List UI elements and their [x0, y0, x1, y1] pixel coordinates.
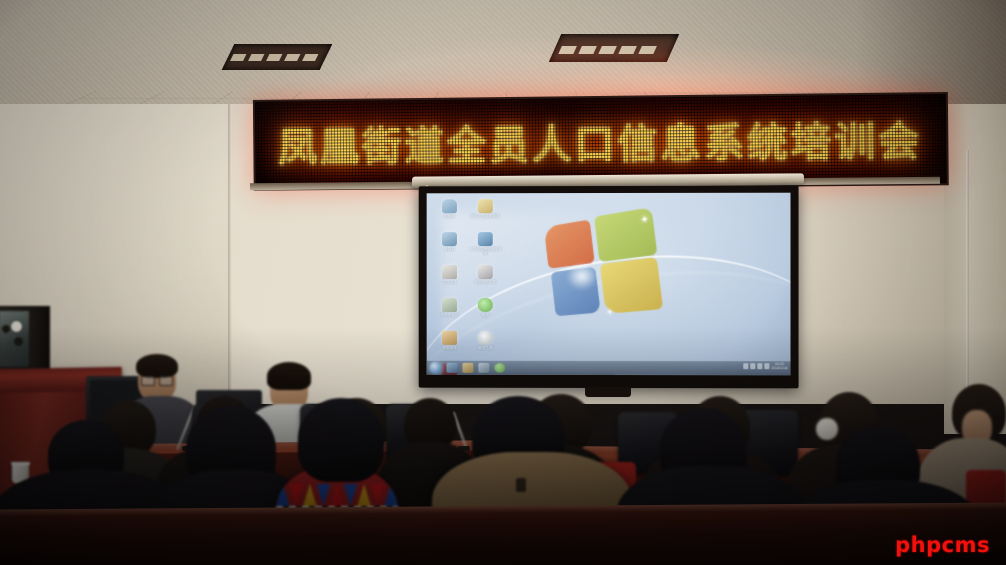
presenter-hair — [267, 362, 311, 390]
recycle-bin-icon[interactable]: 回收站 — [433, 198, 467, 228]
watermark: phpcms — [895, 533, 990, 557]
ceiling-vent-left — [222, 44, 333, 70]
cabinet-dial-icon[interactable] — [11, 321, 22, 332]
photo-scene: 凤凰街道全员人口信息系统培训会 ✦ ✦ — [0, 0, 1006, 565]
coat-zipper-pull — [516, 478, 526, 492]
icon-label: 聊天工具 — [468, 346, 502, 350]
document-icon[interactable]: 新员工信息采集表 — [468, 198, 502, 228]
led-ceiling-glow-right — [560, 0, 1000, 92]
icon-label: 微信 — [468, 313, 502, 317]
setup-icon[interactable]: 安装程序 — [433, 330, 467, 360]
icon-label: 系统安装包 — [433, 313, 467, 317]
icon-label: 培训资料汇总 — [468, 280, 502, 284]
computer-icon[interactable]: 计算机 — [433, 231, 467, 261]
word-document-icon[interactable]: 人口信息系统操作手册 — [468, 231, 502, 261]
face-mask-icon — [816, 418, 838, 440]
icon-label: 安装程序 — [433, 346, 467, 350]
cabinet-side-panel — [30, 307, 49, 373]
qq-chat-icon[interactable]: 聊天工具 — [468, 330, 502, 360]
projector-screen-foot — [585, 387, 631, 397]
cabinet-button-icon[interactable] — [14, 337, 23, 346]
sparkle-icon: ✦ — [639, 214, 649, 227]
front-table — [0, 502, 1006, 565]
projected-desktop: ✦ ✦ 回收站 新员工信息采集表 计算机 人 — [427, 193, 791, 376]
sparkle-icon: ✦ — [606, 307, 614, 317]
cabinet-button-icon[interactable] — [2, 325, 10, 333]
av-equipment-cabinet — [0, 306, 50, 374]
icon-label: 回收站 — [433, 214, 467, 218]
attendee-head — [298, 398, 384, 482]
icon-label: 新员工信息采集表 — [468, 214, 502, 218]
wechat-icon[interactable]: 微信 — [468, 297, 502, 327]
folder-icon[interactable]: 系统安装包 — [433, 297, 467, 327]
eyeglasses-icon — [141, 376, 173, 384]
presenter-hair — [136, 354, 178, 378]
notes-icon[interactable]: 培训资料汇总 — [468, 264, 502, 294]
briefcase-icon[interactable]: 工作文件 — [433, 264, 467, 294]
icon-label: 工作文件 — [433, 280, 467, 284]
windows-pane-bottom-right — [600, 257, 663, 314]
icon-label: 人口信息系统操作手册 — [468, 247, 502, 256]
led-banner-text: 凤凰街道全员人口信息系统培训会 — [278, 108, 923, 174]
windows-logo-icon: ✦ ✦ — [543, 207, 664, 320]
desktop-icon-grid: 回收站 新员工信息采集表 计算机 人口信息系统操作手册 工作文件 — [433, 198, 511, 375]
wall-corner-left — [228, 104, 232, 404]
projector-screen: ✦ ✦ 回收站 新员工信息采集表 计算机 人 — [419, 186, 799, 389]
icon-label: 计算机 — [433, 247, 467, 251]
windows-logo-shine — [564, 260, 599, 291]
